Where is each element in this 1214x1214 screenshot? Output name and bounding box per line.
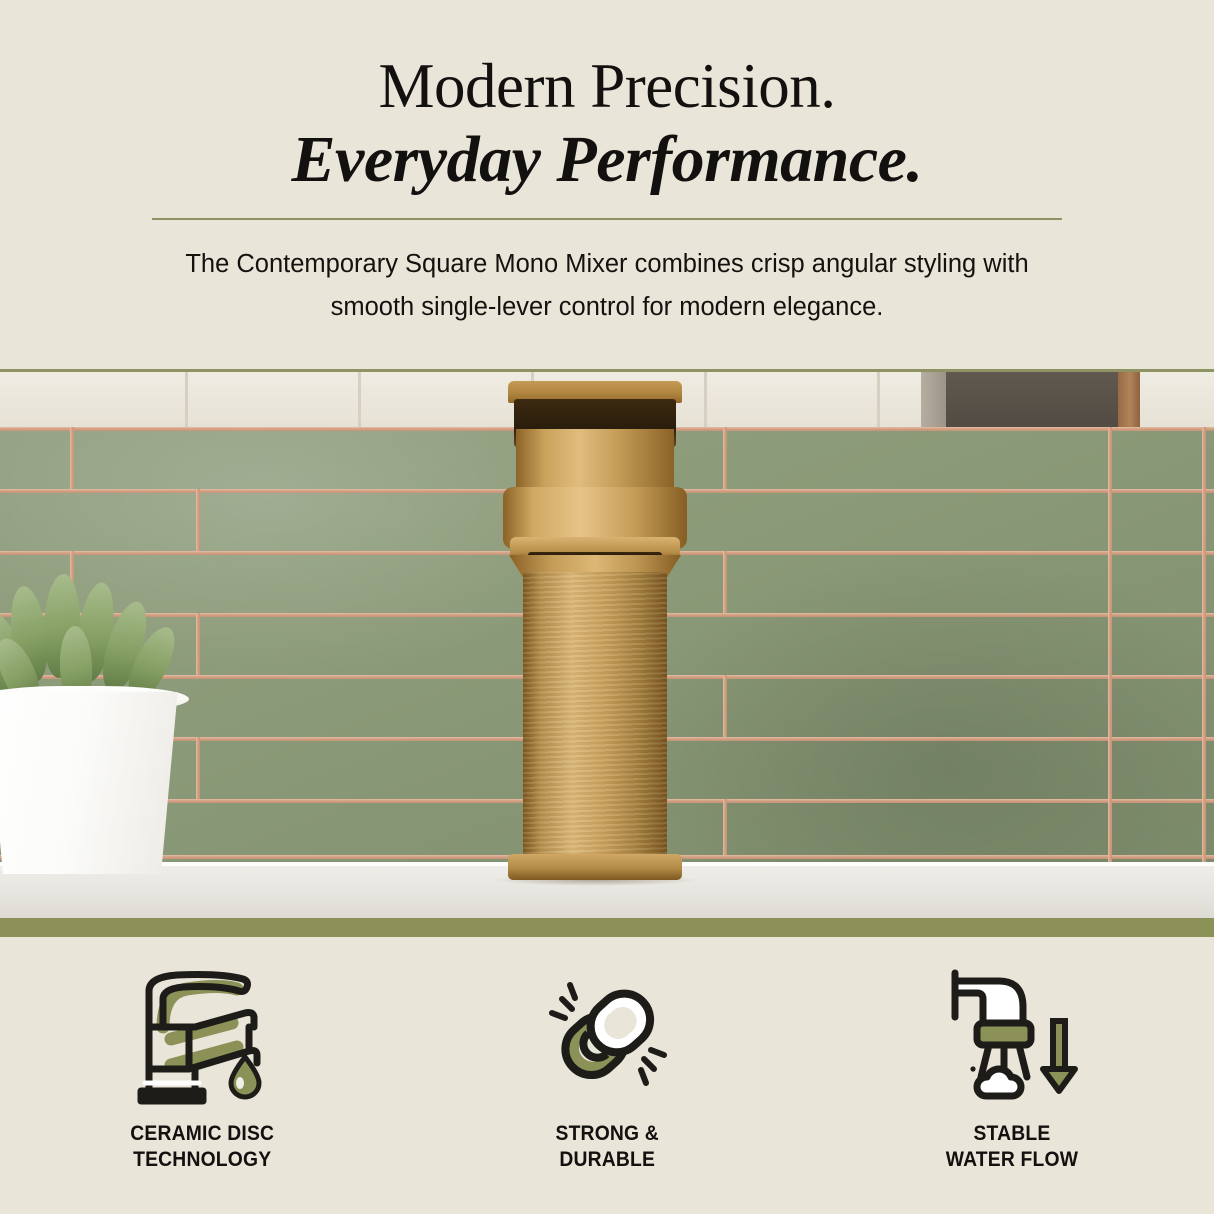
product-photo bbox=[0, 369, 1214, 918]
header-subcopy: The Contemporary Square Mono Mixer combi… bbox=[150, 243, 1064, 329]
ceramic-disc-faucet-icon bbox=[127, 965, 277, 1105]
mono-mixer-tap bbox=[0, 369, 1214, 918]
photo-top-border bbox=[0, 369, 1214, 372]
page-title: Modern Precision. Everyday Performance. bbox=[0, 52, 1214, 194]
olive-divider-band bbox=[0, 918, 1214, 937]
headline-line-2: Everyday Performance. bbox=[0, 126, 1214, 194]
pipe-elbow bbox=[955, 981, 1023, 1025]
water-flow-pipe-icon bbox=[937, 965, 1087, 1105]
tap-base-plate bbox=[508, 854, 682, 880]
header-divider bbox=[152, 218, 1062, 220]
feature-label: CERAMIC DISC TECHNOLOGY bbox=[130, 1121, 274, 1173]
chain-link-icon bbox=[532, 965, 682, 1105]
feature-item-stable-flow: STABLE WATER FLOW bbox=[809, 937, 1214, 1173]
water-stream bbox=[1019, 1045, 1027, 1077]
down-arrow bbox=[1043, 1021, 1075, 1091]
water-droplet bbox=[970, 1066, 975, 1071]
feature-item-ceramic-disc: CERAMIC DISC TECHNOLOGY bbox=[0, 937, 405, 1173]
tap-body-column bbox=[523, 572, 667, 860]
feature-strip: CERAMIC DISC TECHNOLOGY STRONG & DURABLE bbox=[0, 937, 1214, 1214]
header-section: Modern Precision. Everyday Performance. … bbox=[0, 0, 1214, 369]
headline-line-1: Modern Precision. bbox=[379, 51, 836, 121]
feature-item-strong-durable: STRONG & DURABLE bbox=[405, 937, 810, 1173]
feature-label: STABLE WATER FLOW bbox=[945, 1121, 1077, 1173]
product-marketing-card: Modern Precision. Everyday Performance. … bbox=[0, 0, 1214, 1214]
feature-label: STRONG & DURABLE bbox=[555, 1121, 658, 1173]
